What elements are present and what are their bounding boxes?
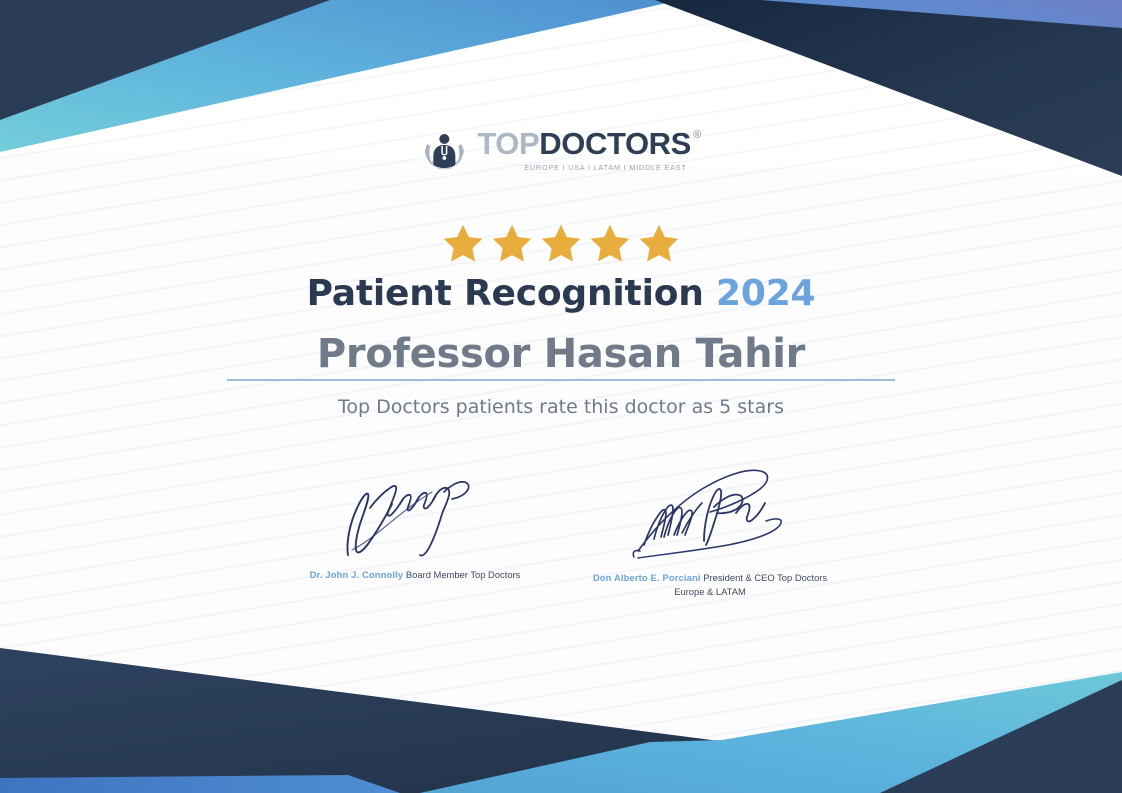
handwritten-signature-icon — [624, 455, 796, 565]
signature-caption: Don Alberto E. Porciani President & CEO … — [593, 571, 827, 598]
award-year: 2024 — [716, 273, 815, 314]
registered-trademark-icon: ® — [693, 130, 701, 141]
star-icon — [540, 222, 582, 264]
award-label: Patient Recognition — [307, 273, 704, 314]
logo-wordmark: TOPDOCTORS® — [477, 128, 700, 159]
doctor-laurel-wreath-icon — [421, 128, 467, 172]
logo-word-top: TOP — [477, 128, 539, 159]
signature-caption: Dr. John J. Connolly Board Member Top Do… — [310, 568, 521, 582]
topdoctors-logo: TOPDOCTORS® EUROPE I USA I LATAM I MIDDL… — [421, 126, 700, 174]
star-rating — [442, 222, 680, 264]
award-heading: Patient Recognition 2024 — [0, 273, 1122, 314]
certificate-page: TOPDOCTORS® EUROPE I USA I LATAM I MIDDL… — [0, 0, 1122, 793]
star-icon — [589, 222, 631, 264]
star-icon — [491, 222, 533, 264]
recipient-name: Professor Hasan Tahir — [0, 331, 1122, 377]
logo-word-doctors: DOCTORS — [539, 128, 691, 159]
signatory-role-line2: Europe & LATAM — [674, 586, 746, 597]
logo-wordmark-group: TOPDOCTORS® EUROPE I USA I LATAM I MIDDL… — [477, 128, 700, 172]
signatory-role: President & CEO Top Doctors — [703, 572, 827, 583]
signatory-name: Dr. John J. Connolly — [310, 569, 404, 580]
signature-block-porciani: Don Alberto E. Porciani President & CEO … — [576, 455, 844, 598]
handwritten-signature-icon — [340, 462, 490, 562]
logo-regions: EUROPE I USA I LATAM I MIDDLE EAST — [477, 163, 700, 172]
signatory-name: Don Alberto E. Porciani — [593, 572, 701, 583]
star-icon — [442, 222, 484, 264]
signatory-role: Board Member Top Doctors — [406, 569, 520, 580]
rating-caption: Top Doctors patients rate this doctor as… — [0, 396, 1122, 418]
heading-divider — [227, 379, 895, 381]
signature-block-connolly: Dr. John J. Connolly Board Member Top Do… — [282, 462, 548, 582]
certificate-content: TOPDOCTORS® EUROPE I USA I LATAM I MIDDL… — [0, 0, 1122, 793]
star-icon — [638, 222, 680, 264]
